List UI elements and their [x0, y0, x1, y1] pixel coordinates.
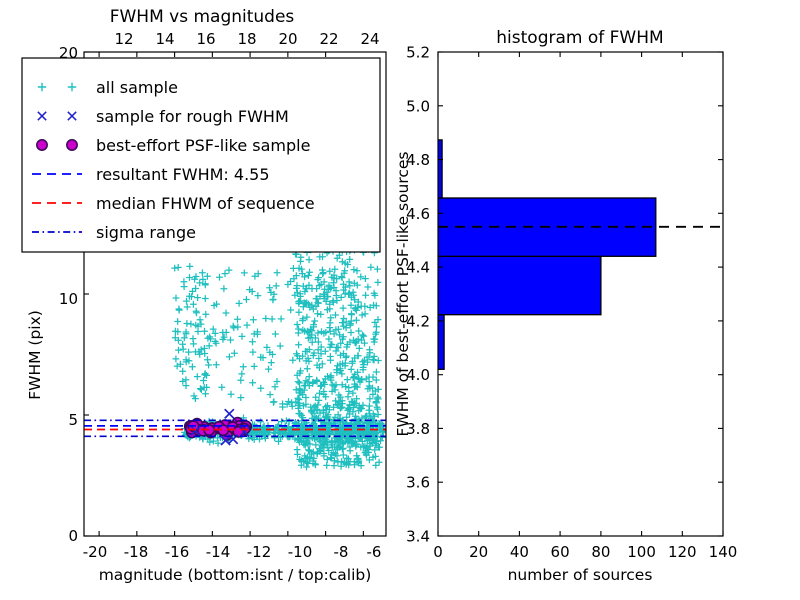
- left-panel-title: FWHM vs magnitudes: [110, 7, 295, 27]
- y-tick-label: 5.0: [406, 97, 430, 115]
- legend-item-label: all sample: [96, 78, 178, 97]
- top-tick-label: 22: [319, 30, 338, 48]
- x-tick-label: 0: [433, 543, 443, 561]
- legend-circle-icon: [67, 140, 77, 150]
- top-tick-label: 14: [155, 30, 174, 48]
- bottom-tick-label: -12: [247, 543, 272, 561]
- histogram-bar: [438, 315, 444, 370]
- top-tick-label: 18: [237, 30, 256, 48]
- x-tick-label: 80: [591, 543, 610, 561]
- legend-item-label: best-effort PSF-like sample: [96, 136, 310, 155]
- histogram-bar: [438, 140, 442, 198]
- bottom-tick-label: -6: [367, 543, 382, 561]
- x-tick-label: 60: [551, 543, 570, 561]
- matplotlib-figure: FWHM vs magnitudes 12 14 16 18 20 22 24: [0, 0, 800, 600]
- y-tick-label: 5: [68, 411, 78, 429]
- y-tick-label: 3.4: [406, 528, 430, 546]
- bottom-tick-label: -14: [206, 543, 231, 561]
- left-panel-xlabel: magnitude (bottom:isnt / top:calib): [99, 566, 372, 584]
- y-tick-label: 0: [68, 527, 78, 545]
- right-panel-title: histogram of FWHM: [496, 28, 663, 48]
- bottom-tick-label: -8: [334, 543, 349, 561]
- right-panel-ylabel: FWHM of best-effort PSF-like sources: [394, 151, 412, 436]
- legend: all samplesample for rough FWHMbest-effo…: [22, 58, 380, 252]
- histogram-bar: [438, 256, 601, 314]
- bottom-tick-label: -10: [288, 543, 313, 561]
- x-tick-label: 40: [510, 543, 529, 561]
- top-tick-label: 12: [114, 30, 133, 48]
- legend-item-label: sigma range: [96, 223, 196, 242]
- y-tick-label: 5.2: [406, 44, 430, 62]
- legend-circle-icon: [37, 140, 47, 150]
- left-panel-ylabel: FWHM (pix): [26, 310, 44, 400]
- legend-item-label: sample for rough FWHM: [96, 107, 289, 126]
- x-tick-label: 140: [709, 543, 738, 561]
- bottom-tick-label: -16: [165, 543, 190, 561]
- bottom-tick-label: -20: [83, 543, 108, 561]
- y-tick-label: 3.6: [406, 474, 430, 492]
- legend-item-label: resultant FWHM: 4.55: [96, 165, 270, 184]
- legend-item-label: median FHWM of sequence: [96, 194, 315, 213]
- bottom-tick-label: -18: [124, 543, 149, 561]
- figure-canvas: FWHM vs magnitudes 12 14 16 18 20 22 24: [0, 0, 800, 600]
- x-tick-label: 120: [668, 543, 697, 561]
- top-tick-label: 20: [278, 30, 297, 48]
- top-tick-label: 24: [360, 30, 379, 48]
- top-tick-label: 16: [196, 30, 215, 48]
- y-tick-label: 10: [59, 290, 78, 308]
- x-tick-label: 100: [627, 543, 656, 561]
- x-tick-label: 20: [469, 543, 488, 561]
- right-panel-xlabel: number of sources: [508, 566, 653, 584]
